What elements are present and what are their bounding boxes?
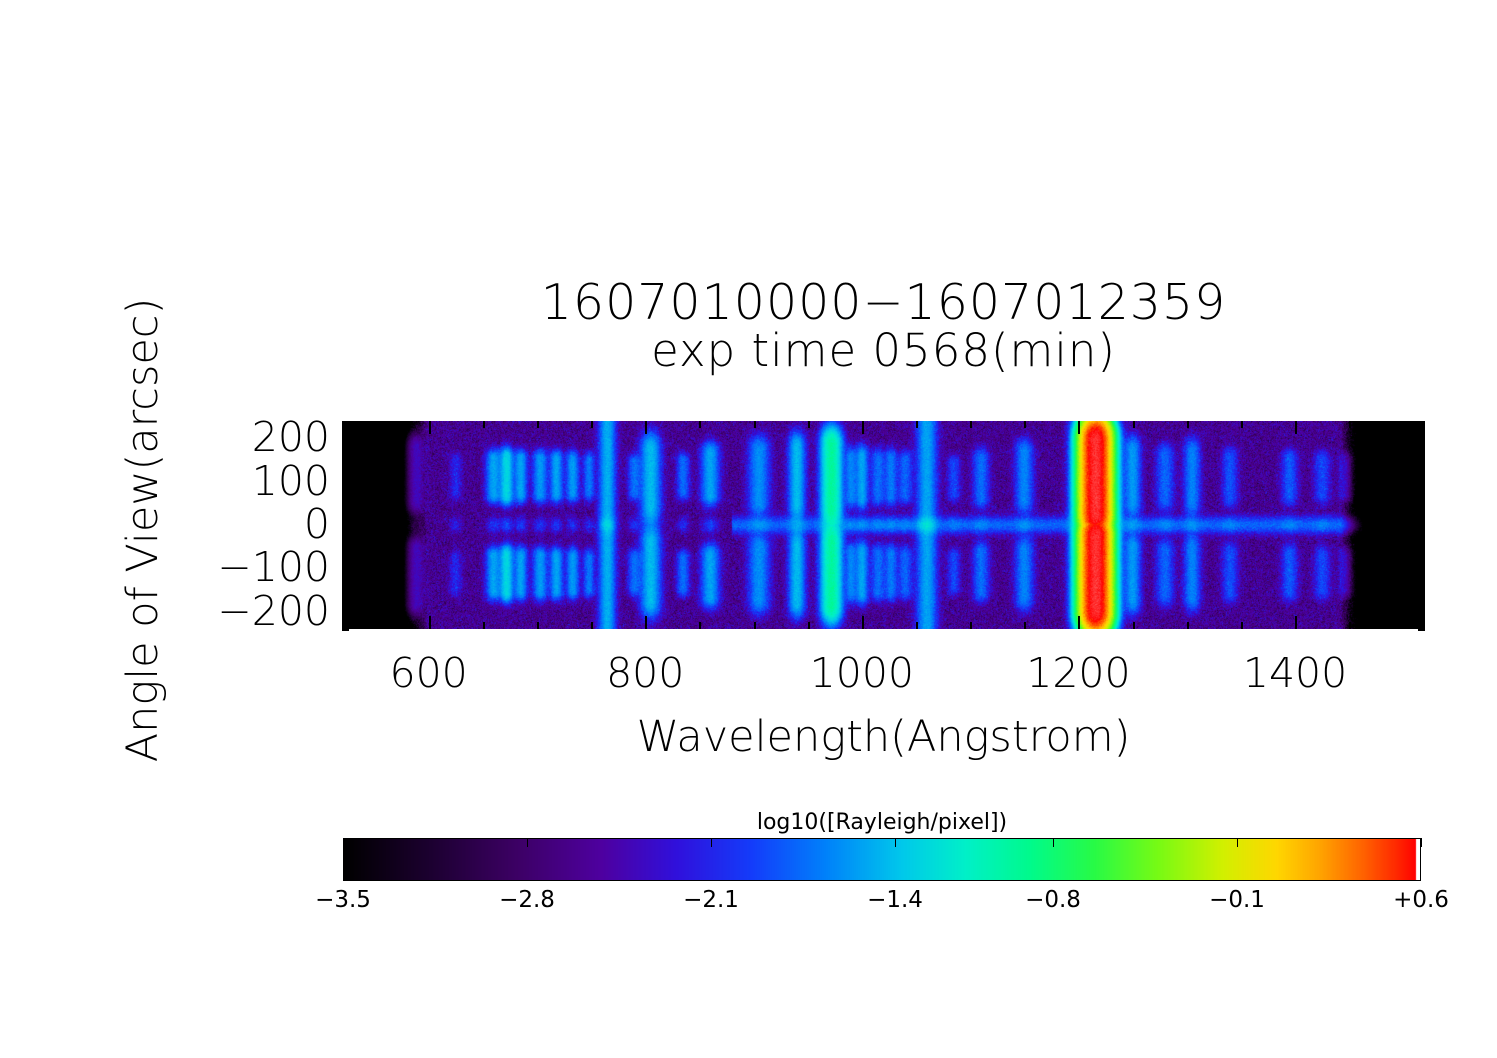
x-minor-tick: [483, 622, 485, 629]
y-minor-tick: [1418, 516, 1425, 518]
y-minor-tick: [342, 430, 349, 432]
y-tick-label: 200: [252, 417, 330, 458]
x-major-tick: [862, 421, 864, 434]
y-minor-tick: [342, 629, 349, 631]
y-minor-tick: [342, 542, 349, 544]
y-minor-tick: [1418, 603, 1425, 605]
x-minor-tick: [1187, 421, 1189, 428]
x-tick-label: 800: [565, 653, 725, 694]
x-minor-tick: [808, 622, 810, 629]
colorbar-title: log10([Rayleigh/pixel]): [343, 810, 1421, 835]
y-minor-tick: [1418, 551, 1425, 553]
x-minor-tick: [754, 622, 756, 629]
x-minor-tick: [483, 421, 485, 428]
y-tick-label: −200: [217, 591, 330, 632]
y-minor-tick: [1418, 594, 1425, 596]
x-minor-tick: [1349, 622, 1351, 629]
x-minor-tick: [1133, 622, 1135, 629]
x-minor-tick: [1403, 622, 1405, 629]
colorbar-tick: [1237, 838, 1238, 847]
y-minor-tick: [1418, 499, 1425, 501]
y-minor-tick: [342, 508, 349, 510]
y-minor-tick: [342, 551, 349, 553]
y-minor-tick: [1418, 629, 1425, 631]
y-minor-tick: [1418, 560, 1425, 562]
x-major-tick: [1078, 421, 1080, 434]
y-tick-label: 0: [304, 504, 330, 545]
x-minor-tick: [591, 421, 593, 428]
colorbar-tick-label: +0.6: [1361, 889, 1481, 912]
y-minor-tick: [1418, 577, 1425, 579]
x-minor-tick: [591, 622, 593, 629]
y-major-tick: [342, 568, 355, 570]
x-minor-tick: [1024, 421, 1026, 428]
y-minor-tick: [342, 464, 349, 466]
colorbar-tick: [1421, 838, 1422, 847]
y-major-tick: [342, 438, 355, 440]
x-minor-tick: [970, 421, 972, 428]
y-axis-title: Angle of View(arcsec): [118, 270, 180, 790]
y-major-tick: [342, 482, 355, 484]
x-minor-tick: [1241, 622, 1243, 629]
y-minor-tick: [342, 490, 349, 492]
y-minor-tick: [342, 447, 349, 449]
y-minor-tick: [342, 534, 349, 536]
x-minor-tick: [1024, 622, 1026, 629]
colorbar-tick: [1053, 838, 1054, 847]
x-minor-tick: [374, 421, 376, 428]
colorbar-tick-label: −3.5: [283, 889, 403, 912]
x-minor-tick: [1187, 622, 1189, 629]
x-major-tick: [1295, 616, 1297, 629]
x-major-tick: [645, 421, 647, 434]
y-minor-tick: [342, 586, 349, 588]
colorbar-tick-label: −0.1: [1177, 889, 1297, 912]
y-tick-label: −100: [217, 547, 330, 588]
y-minor-tick: [342, 577, 349, 579]
x-minor-tick: [916, 421, 918, 428]
y-minor-tick: [342, 620, 349, 622]
y-minor-tick: [1418, 490, 1425, 492]
x-major-tick: [1295, 421, 1297, 434]
colorbar-tick: [895, 838, 896, 847]
x-major-tick: [862, 616, 864, 629]
y-minor-tick: [1418, 586, 1425, 588]
colorbar-gradient: [344, 839, 1420, 880]
x-major-tick: [1078, 616, 1080, 629]
x-major-tick: [429, 421, 431, 434]
y-minor-tick: [342, 473, 349, 475]
x-axis-title: Wavelength(Angstrom): [342, 712, 1425, 762]
y-minor-tick: [342, 594, 349, 596]
y-major-tick: [1412, 525, 1425, 527]
x-minor-tick: [808, 421, 810, 428]
x-minor-tick: [970, 622, 972, 629]
y-minor-tick: [342, 516, 349, 518]
plot-title: 1607010000−1607012359 exp time 0568(min): [342, 278, 1425, 374]
y-major-tick: [1412, 612, 1425, 614]
y-minor-tick: [1418, 473, 1425, 475]
x-major-tick: [429, 616, 431, 629]
spectrum-canvas: [342, 421, 1425, 629]
y-minor-tick: [342, 499, 349, 501]
y-minor-tick: [342, 421, 349, 423]
x-major-tick: [645, 616, 647, 629]
y-minor-tick: [1418, 430, 1425, 432]
colorbar-tick: [711, 838, 712, 847]
y-minor-tick: [1418, 620, 1425, 622]
y-minor-tick: [1418, 456, 1425, 458]
y-major-tick: [1412, 568, 1425, 570]
colorbar: [343, 838, 1421, 881]
x-minor-tick: [537, 421, 539, 428]
x-minor-tick: [699, 622, 701, 629]
y-minor-tick: [342, 560, 349, 562]
x-tick-label: 1400: [1215, 653, 1375, 694]
x-minor-tick: [1403, 421, 1405, 428]
y-major-tick: [1412, 482, 1425, 484]
y-minor-tick: [1418, 534, 1425, 536]
plot-title-line-1: 1607010000−1607012359: [342, 278, 1425, 328]
x-minor-tick: [537, 622, 539, 629]
colorbar-tick-label: −0.8: [993, 889, 1113, 912]
y-major-tick: [1412, 438, 1425, 440]
x-minor-tick: [1349, 421, 1351, 428]
colorbar-tick-label: −2.1: [651, 889, 771, 912]
y-minor-tick: [342, 456, 349, 458]
y-major-tick: [342, 525, 355, 527]
x-minor-tick: [916, 622, 918, 629]
x-minor-tick: [1241, 421, 1243, 428]
y-minor-tick: [342, 603, 349, 605]
y-minor-tick: [1418, 542, 1425, 544]
colorbar-tick-label: −2.8: [467, 889, 587, 912]
y-minor-tick: [1418, 421, 1425, 423]
colorbar-tick-label: −1.4: [835, 889, 955, 912]
x-minor-tick: [754, 421, 756, 428]
x-minor-tick: [1133, 421, 1135, 428]
y-minor-tick: [1418, 464, 1425, 466]
x-tick-label: 1000: [782, 653, 942, 694]
x-tick-label: 1200: [998, 653, 1158, 694]
y-minor-tick: [1418, 508, 1425, 510]
x-minor-tick: [699, 421, 701, 428]
spectrum-heatmap: [342, 421, 1425, 629]
y-major-tick: [342, 612, 355, 614]
x-minor-tick: [374, 622, 376, 629]
colorbar-tick: [527, 838, 528, 847]
y-minor-tick: [1418, 447, 1425, 449]
x-tick-label: 600: [349, 653, 509, 694]
y-tick-label: 100: [252, 461, 330, 502]
plot-title-line-2: exp time 0568(min): [342, 328, 1425, 374]
